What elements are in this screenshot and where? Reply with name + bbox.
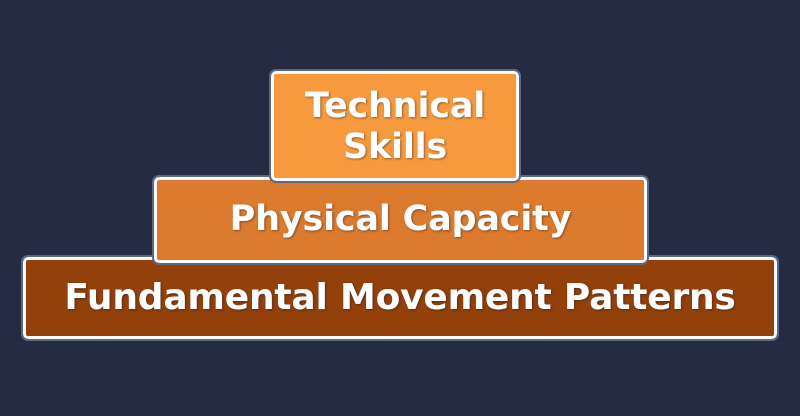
- pyramid-tier-technical-skills[interactable]: Technical Skills: [271, 71, 519, 181]
- pyramid-tier-label-technical-skills: Technical Skills: [274, 86, 516, 169]
- pyramid-tier-fundamental-movement-patterns[interactable]: Fundamental Movement Patterns: [23, 257, 777, 339]
- pyramid-diagram: Technical Skills Physical Capacity Funda…: [0, 0, 800, 416]
- pyramid-tier-physical-capacity[interactable]: Physical Capacity: [154, 177, 647, 263]
- pyramid-tier-label-physical-capacity: Physical Capacity: [157, 199, 644, 240]
- pyramid-tier-label-fundamental-movement-patterns: Fundamental Movement Patterns: [26, 277, 774, 319]
